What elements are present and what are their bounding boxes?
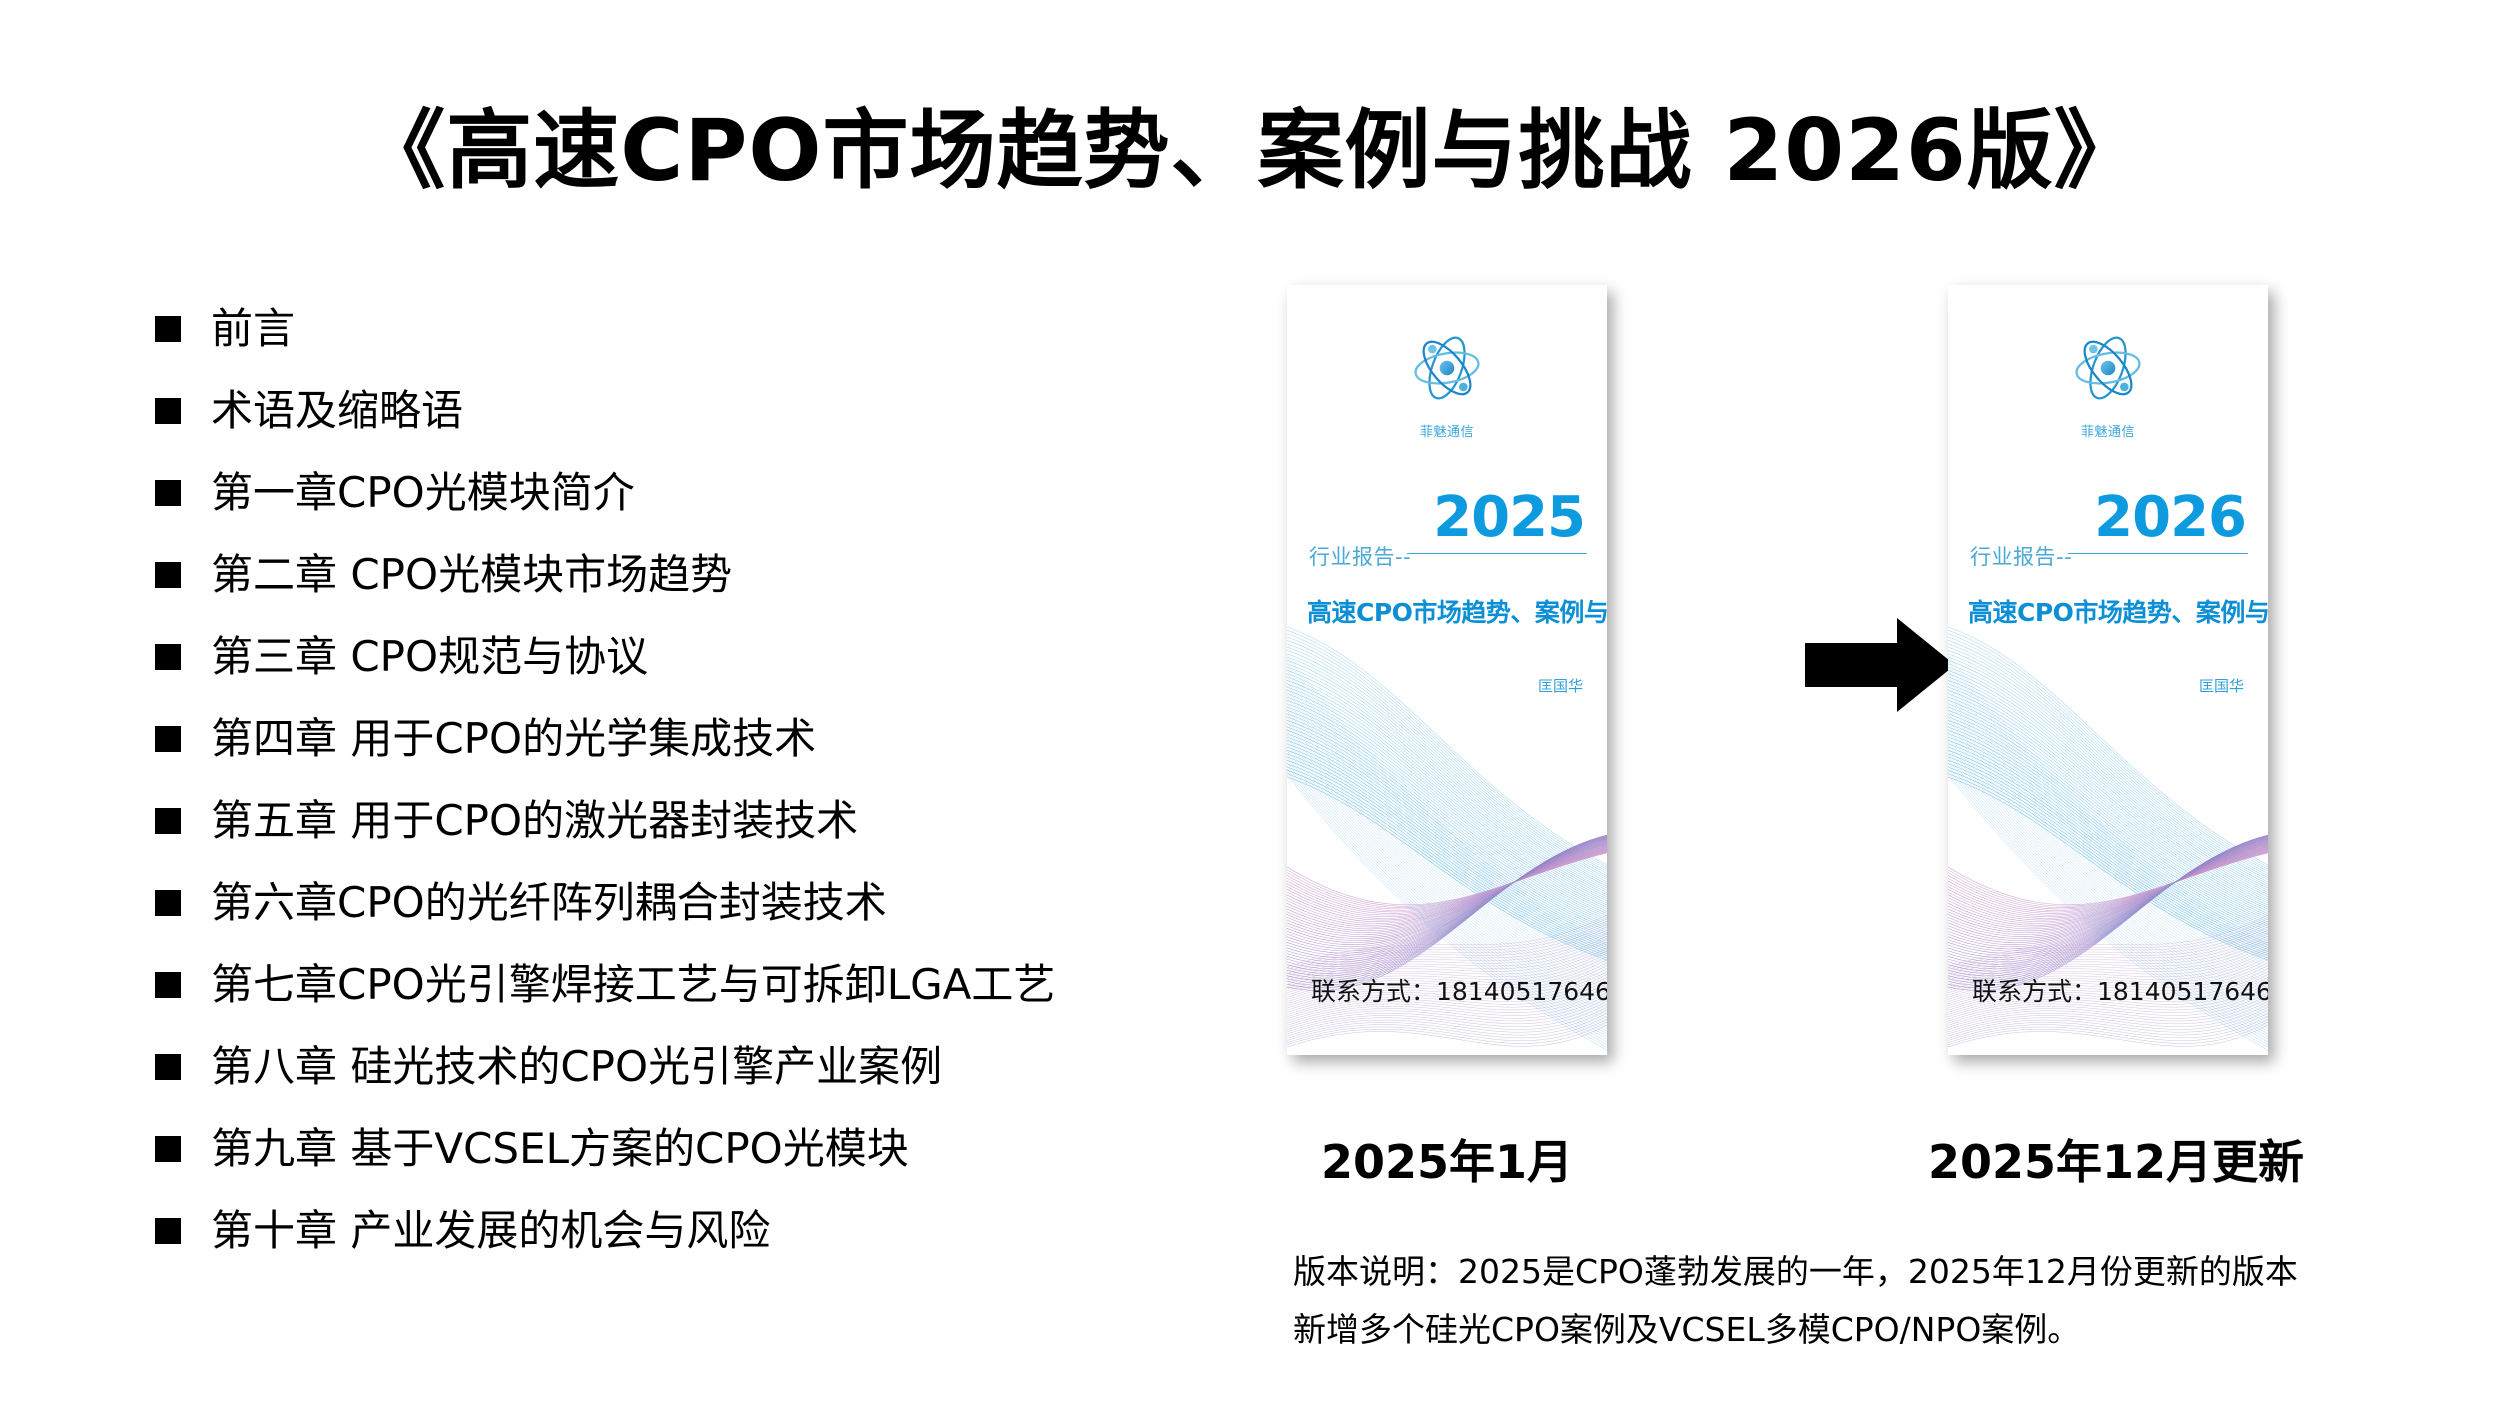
bullet-square-icon xyxy=(155,890,181,916)
toc-item-11[interactable]: 第九章 基于VCSEL方案的CPO光模块 xyxy=(155,1108,1245,1190)
toc-item-label: 第三章 CPO规范与协议 xyxy=(211,616,648,698)
year-rule xyxy=(1407,553,1587,554)
toc-item-3[interactable]: 第一章CPO光模块简介 xyxy=(155,452,1245,534)
brand-name: 菲魅通信 xyxy=(1948,421,2268,440)
slide-root: 《高速CPO市场趋势、案例与挑战 2026版》 前言术语及缩略语第一章CPO光模… xyxy=(0,0,2500,1406)
page-title: 《高速CPO市场趋势、案例与挑战 2026版》 xyxy=(0,80,2500,205)
cover-year: 2025 xyxy=(1287,490,1607,546)
brand-name: 菲魅通信 xyxy=(1287,421,1607,440)
year-rule xyxy=(2068,553,2248,554)
toc-item-1[interactable]: 前言 xyxy=(155,288,1245,370)
toc-item-label: 术语及缩略语 xyxy=(211,370,463,452)
bullet-square-icon xyxy=(155,1136,181,1162)
atom-icon xyxy=(2065,325,2151,411)
bullet-square-icon xyxy=(155,398,181,424)
toc-item-6[interactable]: 第四章 用于CPO的光学集成技术 xyxy=(155,698,1245,780)
version-note-line-2: 新增多个硅光CPO案例及VCSEL多模CPO/NPO案例。 xyxy=(1293,1301,2443,1359)
toc-item-12[interactable]: 第十章 产业发展的机会与风险 xyxy=(155,1190,1245,1272)
toc-item-7[interactable]: 第五章 用于CPO的激光器封装技术 xyxy=(155,780,1245,862)
cover-contact: 联系方式：18140517646 xyxy=(1972,972,2268,1008)
bullet-square-icon xyxy=(155,972,181,998)
toc-item-4[interactable]: 第二章 CPO光模块市场趋势 xyxy=(155,534,1245,616)
cover-year: 2026 xyxy=(1948,490,2268,546)
bullet-square-icon xyxy=(155,480,181,506)
toc-item-label: 第六章CPO的光纤阵列耦合封装技术 xyxy=(211,862,887,944)
table-of-contents: 前言术语及缩略语第一章CPO光模块简介第二章 CPO光模块市场趋势第三章 CPO… xyxy=(155,288,1245,1272)
toc-item-label: 第九章 基于VCSEL方案的CPO光模块 xyxy=(211,1108,909,1190)
bullet-square-icon xyxy=(155,316,181,342)
bullet-square-icon xyxy=(155,644,181,670)
brand-logo: 菲魅通信 xyxy=(1287,325,1607,440)
bullet-square-icon xyxy=(155,562,181,588)
report-cover-2026[interactable]: 菲魅通信 2026 行业报告-- 高速CPO市场趋势、案例与挑战 匡国华 联系方… xyxy=(1948,285,2268,1055)
report-kicker: 行业报告-- xyxy=(1970,541,2072,571)
toc-item-label: 第十章 产业发展的机会与风险 xyxy=(211,1190,770,1272)
toc-item-label: 第七章CPO光引擎焊接工艺与可拆卸LGA工艺 xyxy=(211,944,1055,1026)
right-arrow-icon xyxy=(1805,610,1955,720)
report-kicker: 行业报告-- xyxy=(1309,541,1411,571)
report-cover-2025[interactable]: 菲魅通信 2025 行业报告-- 高速CPO市场趋势、案例与挑战 匡国华 联系方… xyxy=(1287,285,1607,1055)
cover-caption-2026: 2025年12月更新 xyxy=(1928,1126,2288,1192)
toc-item-label: 第五章 用于CPO的激光器封装技术 xyxy=(211,780,858,862)
cover-contact: 联系方式：18140517646 xyxy=(1311,972,1607,1008)
toc-item-8[interactable]: 第六章CPO的光纤阵列耦合封装技术 xyxy=(155,862,1245,944)
toc-item-label: 前言 xyxy=(211,288,295,370)
bullet-square-icon xyxy=(155,1054,181,1080)
toc-item-label: 第一章CPO光模块简介 xyxy=(211,452,635,534)
toc-item-5[interactable]: 第三章 CPO规范与协议 xyxy=(155,616,1245,698)
toc-item-10[interactable]: 第八章 硅光技术的CPO光引擎产业案例 xyxy=(155,1026,1245,1108)
version-note-line-1: 版本说明：2025是CPO蓬勃发展的一年，2025年12月份更新的版本 xyxy=(1293,1243,2443,1301)
version-note: 版本说明：2025是CPO蓬勃发展的一年，2025年12月份更新的版本 新增多个… xyxy=(1293,1243,2443,1359)
bullet-square-icon xyxy=(155,808,181,834)
bullet-square-icon xyxy=(155,1218,181,1244)
toc-item-label: 第二章 CPO光模块市场趋势 xyxy=(211,534,732,616)
toc-item-2[interactable]: 术语及缩略语 xyxy=(155,370,1245,452)
toc-item-label: 第四章 用于CPO的光学集成技术 xyxy=(211,698,816,780)
atom-icon xyxy=(1404,325,1490,411)
bullet-square-icon xyxy=(155,726,181,752)
toc-item-9[interactable]: 第七章CPO光引擎焊接工艺与可拆卸LGA工艺 xyxy=(155,944,1245,1026)
cover-caption-2025: 2025年1月 xyxy=(1287,1126,1607,1192)
toc-item-label: 第八章 硅光技术的CPO光引擎产业案例 xyxy=(211,1026,942,1108)
brand-logo: 菲魅通信 xyxy=(1948,325,2268,440)
